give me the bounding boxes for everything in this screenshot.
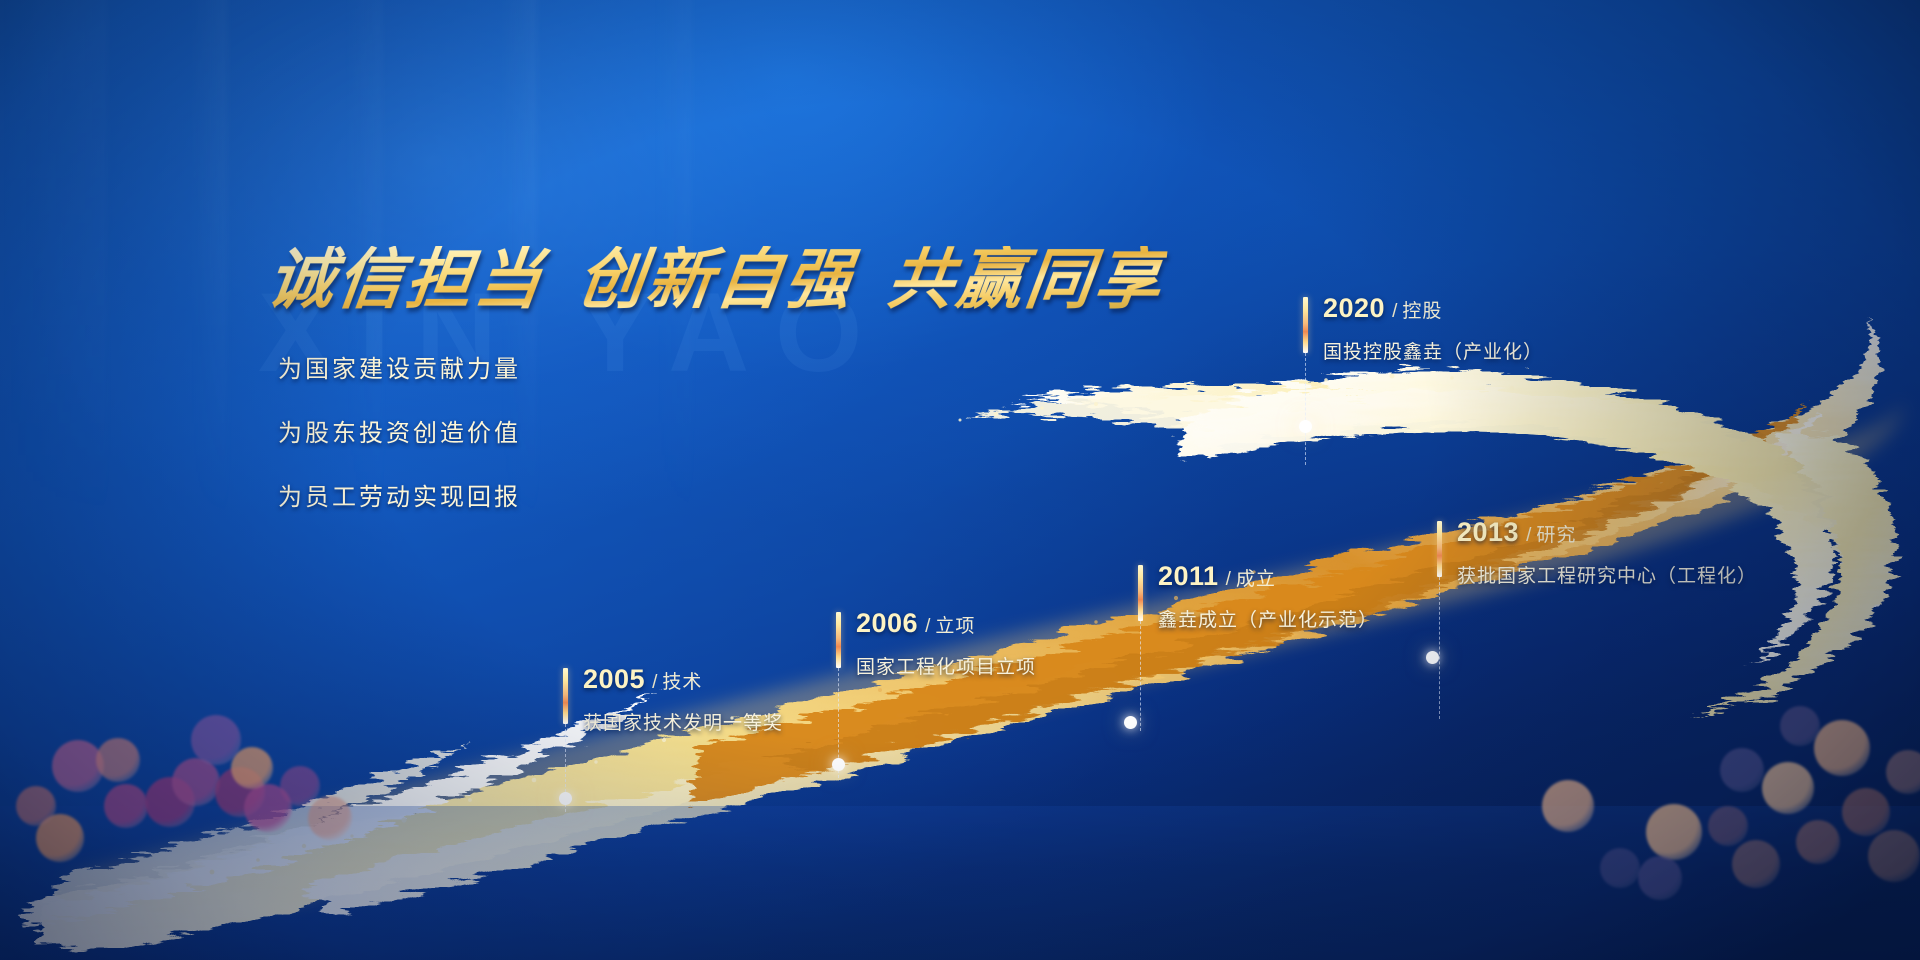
bokeh-circle — [1638, 856, 1682, 900]
headline-part-3: 共赢同享 — [883, 240, 1169, 318]
subtitle-list: 为国家建设贡献力量 为股东投资创造价值 为员工劳动实现回报 — [278, 358, 521, 550]
bokeh-circle — [1796, 820, 1840, 864]
milestone-description: 国投控股鑫垚（产业化） — [1323, 337, 1543, 364]
poster-canvas: XIN YAO 诚信担当创新自强共赢同享 为国家建设贡献力量 为股东投资创造价值… — [0, 0, 1920, 960]
bokeh-circle — [145, 777, 195, 827]
bokeh-circle — [1762, 762, 1814, 814]
bokeh-circle — [1780, 706, 1820, 746]
milestone-dot — [1299, 420, 1312, 433]
bokeh-circle — [308, 796, 352, 840]
milestone-category: 研究 — [1536, 525, 1576, 546]
milestone-category: 立项 — [935, 616, 975, 637]
page-title: 诚信担当创新自强共赢同享 — [264, 246, 1168, 313]
milestone-leader-line — [1439, 577, 1440, 719]
headline-part-1: 诚信担当 — [263, 240, 549, 318]
milestone-accent-bar — [836, 612, 841, 668]
bokeh-circle — [1720, 748, 1764, 792]
bokeh-circle — [1646, 804, 1702, 860]
milestone-heading: 2013/研究 — [1457, 517, 1757, 548]
milestone-year: 2011 — [1158, 561, 1219, 591]
bokeh-circle — [191, 715, 241, 765]
bokeh-circle — [1708, 806, 1748, 846]
subtitle-line-1: 为国家建设贡献力量 — [278, 358, 521, 382]
bokeh-circle — [1732, 840, 1780, 888]
bokeh-circle — [52, 740, 104, 792]
subtitle-line-3: 为员工劳动实现回报 — [278, 486, 521, 510]
milestone-description: 国家工程化项目立项 — [856, 652, 1036, 679]
bokeh-circle — [231, 747, 273, 789]
milestone-separator: / — [925, 616, 930, 637]
milestone-year: 2005 — [583, 664, 645, 694]
bokeh-circle — [96, 738, 140, 782]
milestone-description: 获国家技术发明一等奖 — [583, 708, 783, 735]
milestone-text-block: 2013/研究获批国家工程研究中心（工程化） — [1457, 517, 1757, 588]
milestone-year: 2006 — [856, 608, 918, 638]
milestone-text-block: 2005/技术获国家技术发明一等奖 — [583, 664, 783, 735]
milestone-heading: 2020/控股 — [1323, 293, 1543, 324]
milestone-text-block: 2020/控股国投控股鑫垚（产业化） — [1323, 293, 1543, 364]
milestone-heading: 2005/技术 — [583, 664, 783, 695]
milestone-category: 成立 — [1236, 569, 1276, 590]
subtitle-line-2: 为股东投资创造价值 — [278, 422, 521, 446]
milestone-description: 获批国家工程研究中心（工程化） — [1457, 561, 1757, 588]
milestone-accent-bar — [1138, 565, 1143, 621]
milestone-text-block: 2011/成立鑫垚成立（产业化示范） — [1158, 561, 1378, 632]
milestone-separator: / — [1392, 301, 1397, 322]
milestone-dot — [832, 758, 845, 771]
milestone-accent-bar — [1437, 521, 1442, 577]
milestone-category: 技术 — [662, 672, 702, 693]
milestone-heading: 2006/立项 — [856, 608, 1036, 639]
bokeh-circle — [244, 784, 292, 832]
bokeh-circle — [16, 786, 56, 826]
milestone-heading: 2011/成立 — [1158, 561, 1378, 592]
milestone-dot — [1124, 716, 1137, 729]
milestone-text-block: 2006/立项国家工程化项目立项 — [856, 608, 1036, 679]
bokeh-circle — [1600, 848, 1640, 888]
milestone-year: 2013 — [1457, 517, 1519, 547]
milestone-description: 鑫垚成立（产业化示范） — [1158, 605, 1378, 632]
bokeh-circle — [1886, 750, 1920, 794]
milestone-category: 控股 — [1402, 301, 1442, 322]
background-lower-band — [0, 806, 1920, 960]
milestone-dot — [1426, 651, 1439, 664]
milestone-separator: / — [1226, 569, 1231, 590]
bokeh-circle — [1542, 780, 1594, 832]
milestone-dot — [559, 792, 572, 805]
milestone-separator: / — [652, 672, 657, 693]
headline-part-2: 创新自强 — [573, 240, 859, 318]
bokeh-circle — [215, 767, 265, 817]
bokeh-circle — [280, 766, 320, 806]
milestone-year: 2020 — [1323, 293, 1385, 323]
bokeh-circle — [1814, 720, 1870, 776]
milestone-accent-bar — [563, 668, 568, 724]
bokeh-circle — [172, 758, 220, 806]
milestone-leader-line — [1140, 621, 1141, 731]
bokeh-circle — [104, 784, 148, 828]
bokeh-circle — [1842, 788, 1890, 836]
bokeh-circle — [36, 814, 84, 862]
milestone-separator: / — [1526, 525, 1531, 546]
bokeh-circle — [1868, 830, 1920, 882]
milestone-leader-line — [1305, 353, 1306, 465]
milestone-accent-bar — [1303, 297, 1308, 353]
